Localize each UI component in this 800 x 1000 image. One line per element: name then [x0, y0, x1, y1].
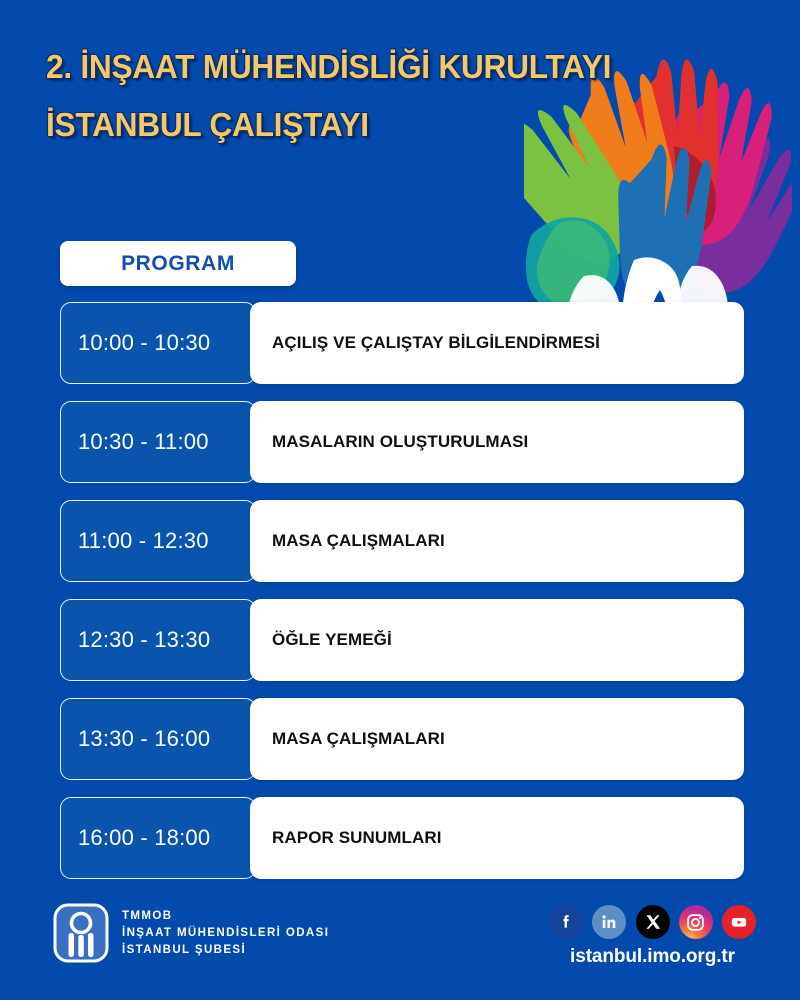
poster-canvas: 2. İNŞAAT MÜHENDİSLİĞİ KURULTAYI İSTANBU…: [0, 0, 800, 1000]
instagram-icon[interactable]: [679, 905, 713, 939]
schedule-row-time-block: 16:00 - 18:00: [60, 797, 256, 879]
schedule-title: MASA ÇALIŞMALARI: [250, 531, 445, 551]
org-line-3: İSTANBUL ŞUBESİ: [122, 942, 329, 959]
schedule-row-time-block: 11:00 - 12:30: [60, 500, 256, 582]
website-url[interactable]: istanbul.imo.org.tr: [545, 946, 760, 968]
social-footer: istanbul.imo.org.tr: [545, 905, 760, 968]
schedule-row-title-block: RAPOR SUNUMLARI: [250, 797, 744, 879]
schedule-row-time-block: 10:00 - 10:30: [60, 302, 256, 384]
program-schedule: 10:00 - 10:30 AÇILIŞ VE ÇALIŞTAY BİLGİLE…: [60, 302, 744, 879]
tmmob-imo-logo-icon: [52, 902, 110, 964]
schedule-time: 12:30 - 13:30: [61, 627, 210, 653]
schedule-row-time-block: 13:30 - 16:00: [60, 698, 256, 780]
schedule-time: 11:00 - 12:30: [61, 528, 209, 554]
title-line-1: 2. İNŞAAT MÜHENDİSLİĞİ KURULTAYI: [46, 50, 564, 83]
schedule-row: 10:30 - 11:00 MASALARIN OLUŞTURULMASI: [60, 401, 744, 483]
schedule-row-title-block: MASA ÇALIŞMALARI: [250, 698, 744, 780]
schedule-title: MASALARIN OLUŞTURULMASI: [250, 432, 528, 452]
schedule-row-title-block: ÖĞLE YEMEĞİ: [250, 599, 744, 681]
schedule-title: ÖĞLE YEMEĞİ: [250, 630, 392, 650]
org-line-1: TMMOB: [122, 908, 329, 925]
poster-title: 2. İNŞAAT MÜHENDİSLİĞİ KURULTAYI İSTANBU…: [46, 50, 586, 141]
schedule-title: RAPOR SUNUMLARI: [250, 828, 442, 848]
schedule-row: 16:00 - 18:00 RAPOR SUNUMLARI: [60, 797, 744, 879]
schedule-row-title-block: AÇILIŞ VE ÇALIŞTAY BİLGİLENDİRMESİ: [250, 302, 744, 384]
schedule-row-time-block: 10:30 - 11:00: [60, 401, 256, 483]
schedule-row-title-block: MASALARIN OLUŞTURULMASI: [250, 401, 744, 483]
schedule-row-time-block: 12:30 - 13:30: [60, 599, 256, 681]
linkedin-icon[interactable]: [592, 905, 626, 939]
schedule-time: 10:30 - 11:00: [61, 429, 209, 455]
schedule-time: 10:00 - 10:30: [61, 330, 210, 356]
program-badge: PROGRAM: [60, 241, 296, 286]
org-line-2: İNŞAAT MÜHENDİSLERİ ODASI: [122, 925, 329, 942]
x-icon[interactable]: [636, 905, 670, 939]
youtube-icon[interactable]: [722, 905, 756, 939]
schedule-title: AÇILIŞ VE ÇALIŞTAY BİLGİLENDİRMESİ: [250, 333, 600, 353]
organization-footer: TMMOB İNŞAAT MÜHENDİSLERİ ODASI İSTANBUL…: [52, 902, 329, 964]
schedule-time: 13:30 - 16:00: [61, 726, 210, 752]
title-line-2: İSTANBUL ÇALIŞTAYI: [46, 108, 564, 141]
schedule-row: 10:00 - 10:30 AÇILIŞ VE ÇALIŞTAY BİLGİLE…: [60, 302, 744, 384]
schedule-row-title-block: MASA ÇALIŞMALARI: [250, 500, 744, 582]
facebook-icon[interactable]: [549, 905, 583, 939]
schedule-title: MASA ÇALIŞMALARI: [250, 729, 445, 749]
social-links: [549, 905, 756, 939]
schedule-row: 12:30 - 13:30 ÖĞLE YEMEĞİ: [60, 599, 744, 681]
schedule-row: 13:30 - 16:00 MASA ÇALIŞMALARI: [60, 698, 744, 780]
organization-name: TMMOB İNŞAAT MÜHENDİSLERİ ODASI İSTANBUL…: [122, 902, 329, 959]
schedule-time: 16:00 - 18:00: [61, 825, 210, 851]
schedule-row: 11:00 - 12:30 MASA ÇALIŞMALARI: [60, 500, 744, 582]
program-badge-label: PROGRAM: [121, 252, 235, 276]
